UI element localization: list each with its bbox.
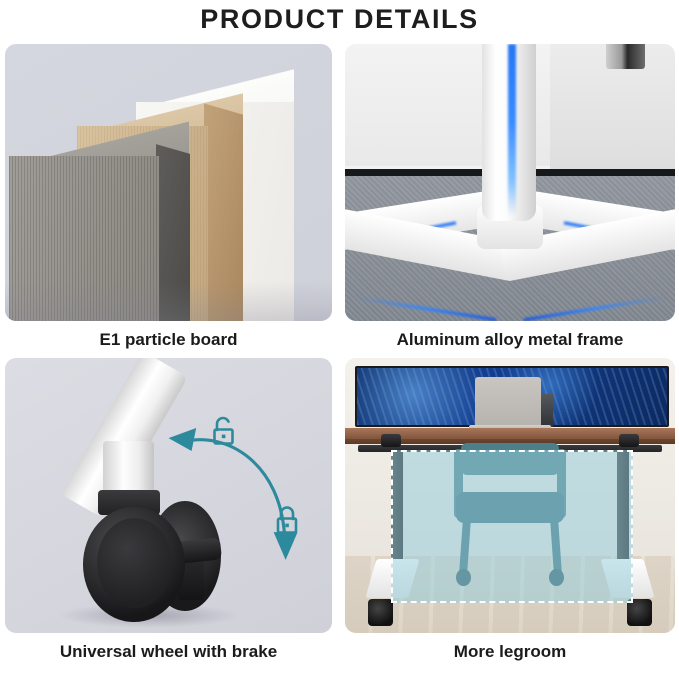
board-shadow xyxy=(5,281,332,321)
desk-bracket-left xyxy=(381,434,401,448)
detail-card-universal-wheel[interactable]: Universal wheel with brake xyxy=(5,358,332,633)
detail-card-metal-frame[interactable]: Aluminum alloy metal frame xyxy=(345,44,675,321)
caption-universal-wheel: Universal wheel with brake xyxy=(5,642,332,662)
laptop-screen xyxy=(475,377,541,427)
rotation-arrow-icon xyxy=(155,416,319,573)
universal-wheel-image xyxy=(5,358,332,633)
desk-caster-right xyxy=(627,599,652,627)
particle-board-image xyxy=(5,44,332,321)
frame-clip xyxy=(606,44,646,69)
frame-column-glow xyxy=(508,44,516,216)
legroom-highlight-area xyxy=(391,450,633,603)
caption-particle-board: E1 particle board xyxy=(5,330,332,350)
metal-frame-image xyxy=(345,44,675,321)
details-grid: E1 particle board Al xyxy=(0,40,679,673)
page-title: PRODUCT DETAILS xyxy=(0,0,679,38)
product-details-page: PRODUCT DETAILS E1 particle board xyxy=(0,0,679,673)
desk-bracket-right xyxy=(619,434,639,448)
caption-legroom: More legroom xyxy=(345,642,675,662)
desk-caster-left xyxy=(368,599,393,627)
detail-card-legroom[interactable]: More legroom xyxy=(345,358,675,633)
caption-metal-frame: Aluminum alloy metal frame xyxy=(345,330,675,350)
legroom-image xyxy=(345,358,675,633)
detail-card-particle-board[interactable]: E1 particle board xyxy=(5,44,332,321)
